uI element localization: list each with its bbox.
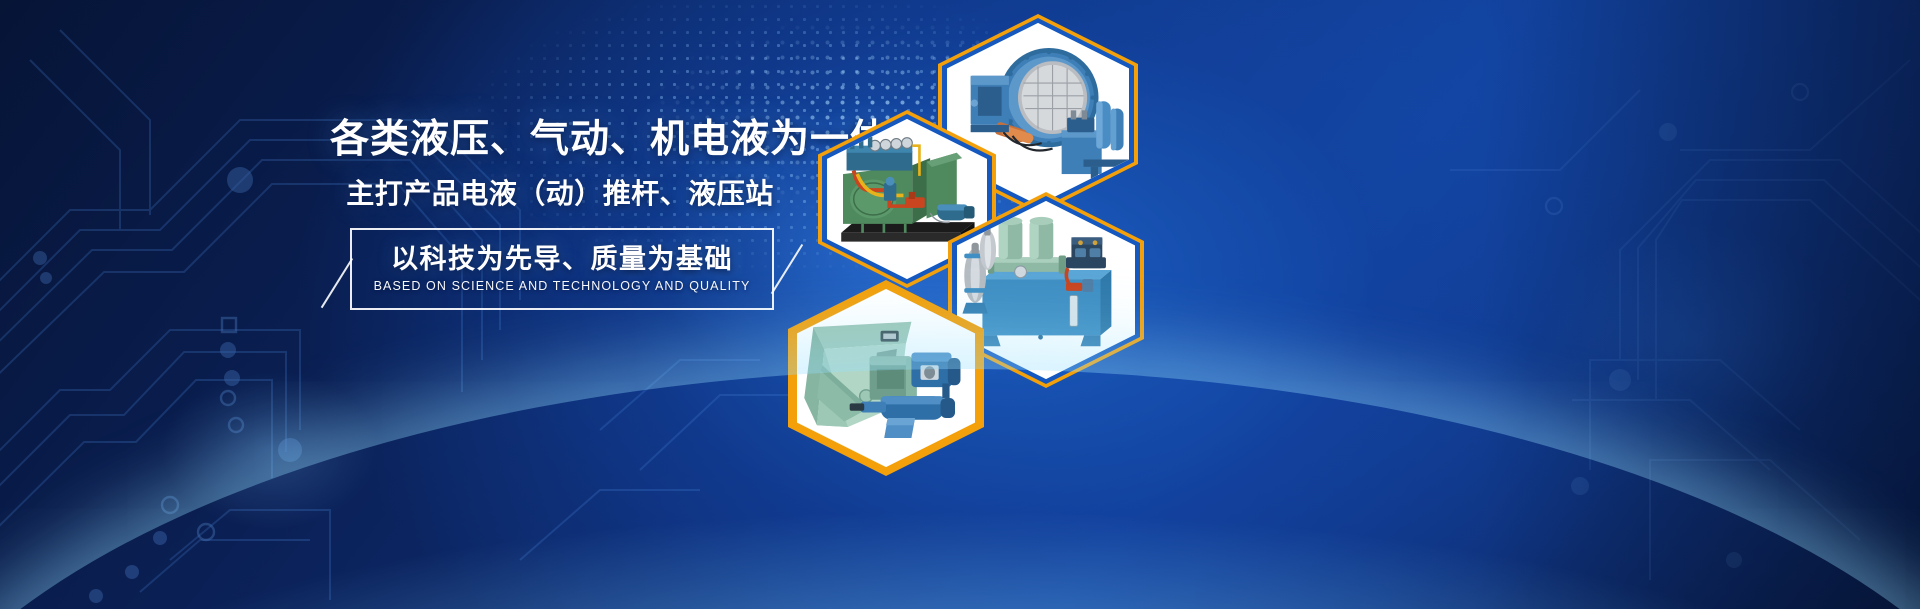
- right-vignette: [1480, 0, 1920, 609]
- page-title: 各类液压、气动、机电液为一体: [330, 120, 790, 159]
- headline-block: 各类液压、气动、机电液为一体 主打产品电液（动）推杆、液压站: [330, 120, 790, 208]
- hero-banner: 各类液压、气动、机电液为一体 主打产品电液（动）推杆、液压站 以科技为先导、质量…: [0, 0, 1920, 609]
- slogan-block: 以科技为先导、质量为基础 BASED ON SCIENCE AND TECHNO…: [322, 228, 802, 320]
- product-hexagon-cluster: [760, 0, 1220, 609]
- glow-left: [120, 340, 420, 560]
- slogan-chinese: 以科技为先导、质量为基础: [391, 245, 733, 273]
- slogan-box: 以科技为先导、质量为基础 BASED ON SCIENCE AND TECHNO…: [350, 228, 774, 310]
- slogan-english: BASED ON SCIENCE AND TECHNOLOGY AND QUAL…: [374, 279, 751, 293]
- glow-right: [1480, 180, 1900, 500]
- page-subtitle: 主打产品电液（动）推杆、液压站: [330, 180, 790, 208]
- slash-decoration-left: [321, 258, 353, 308]
